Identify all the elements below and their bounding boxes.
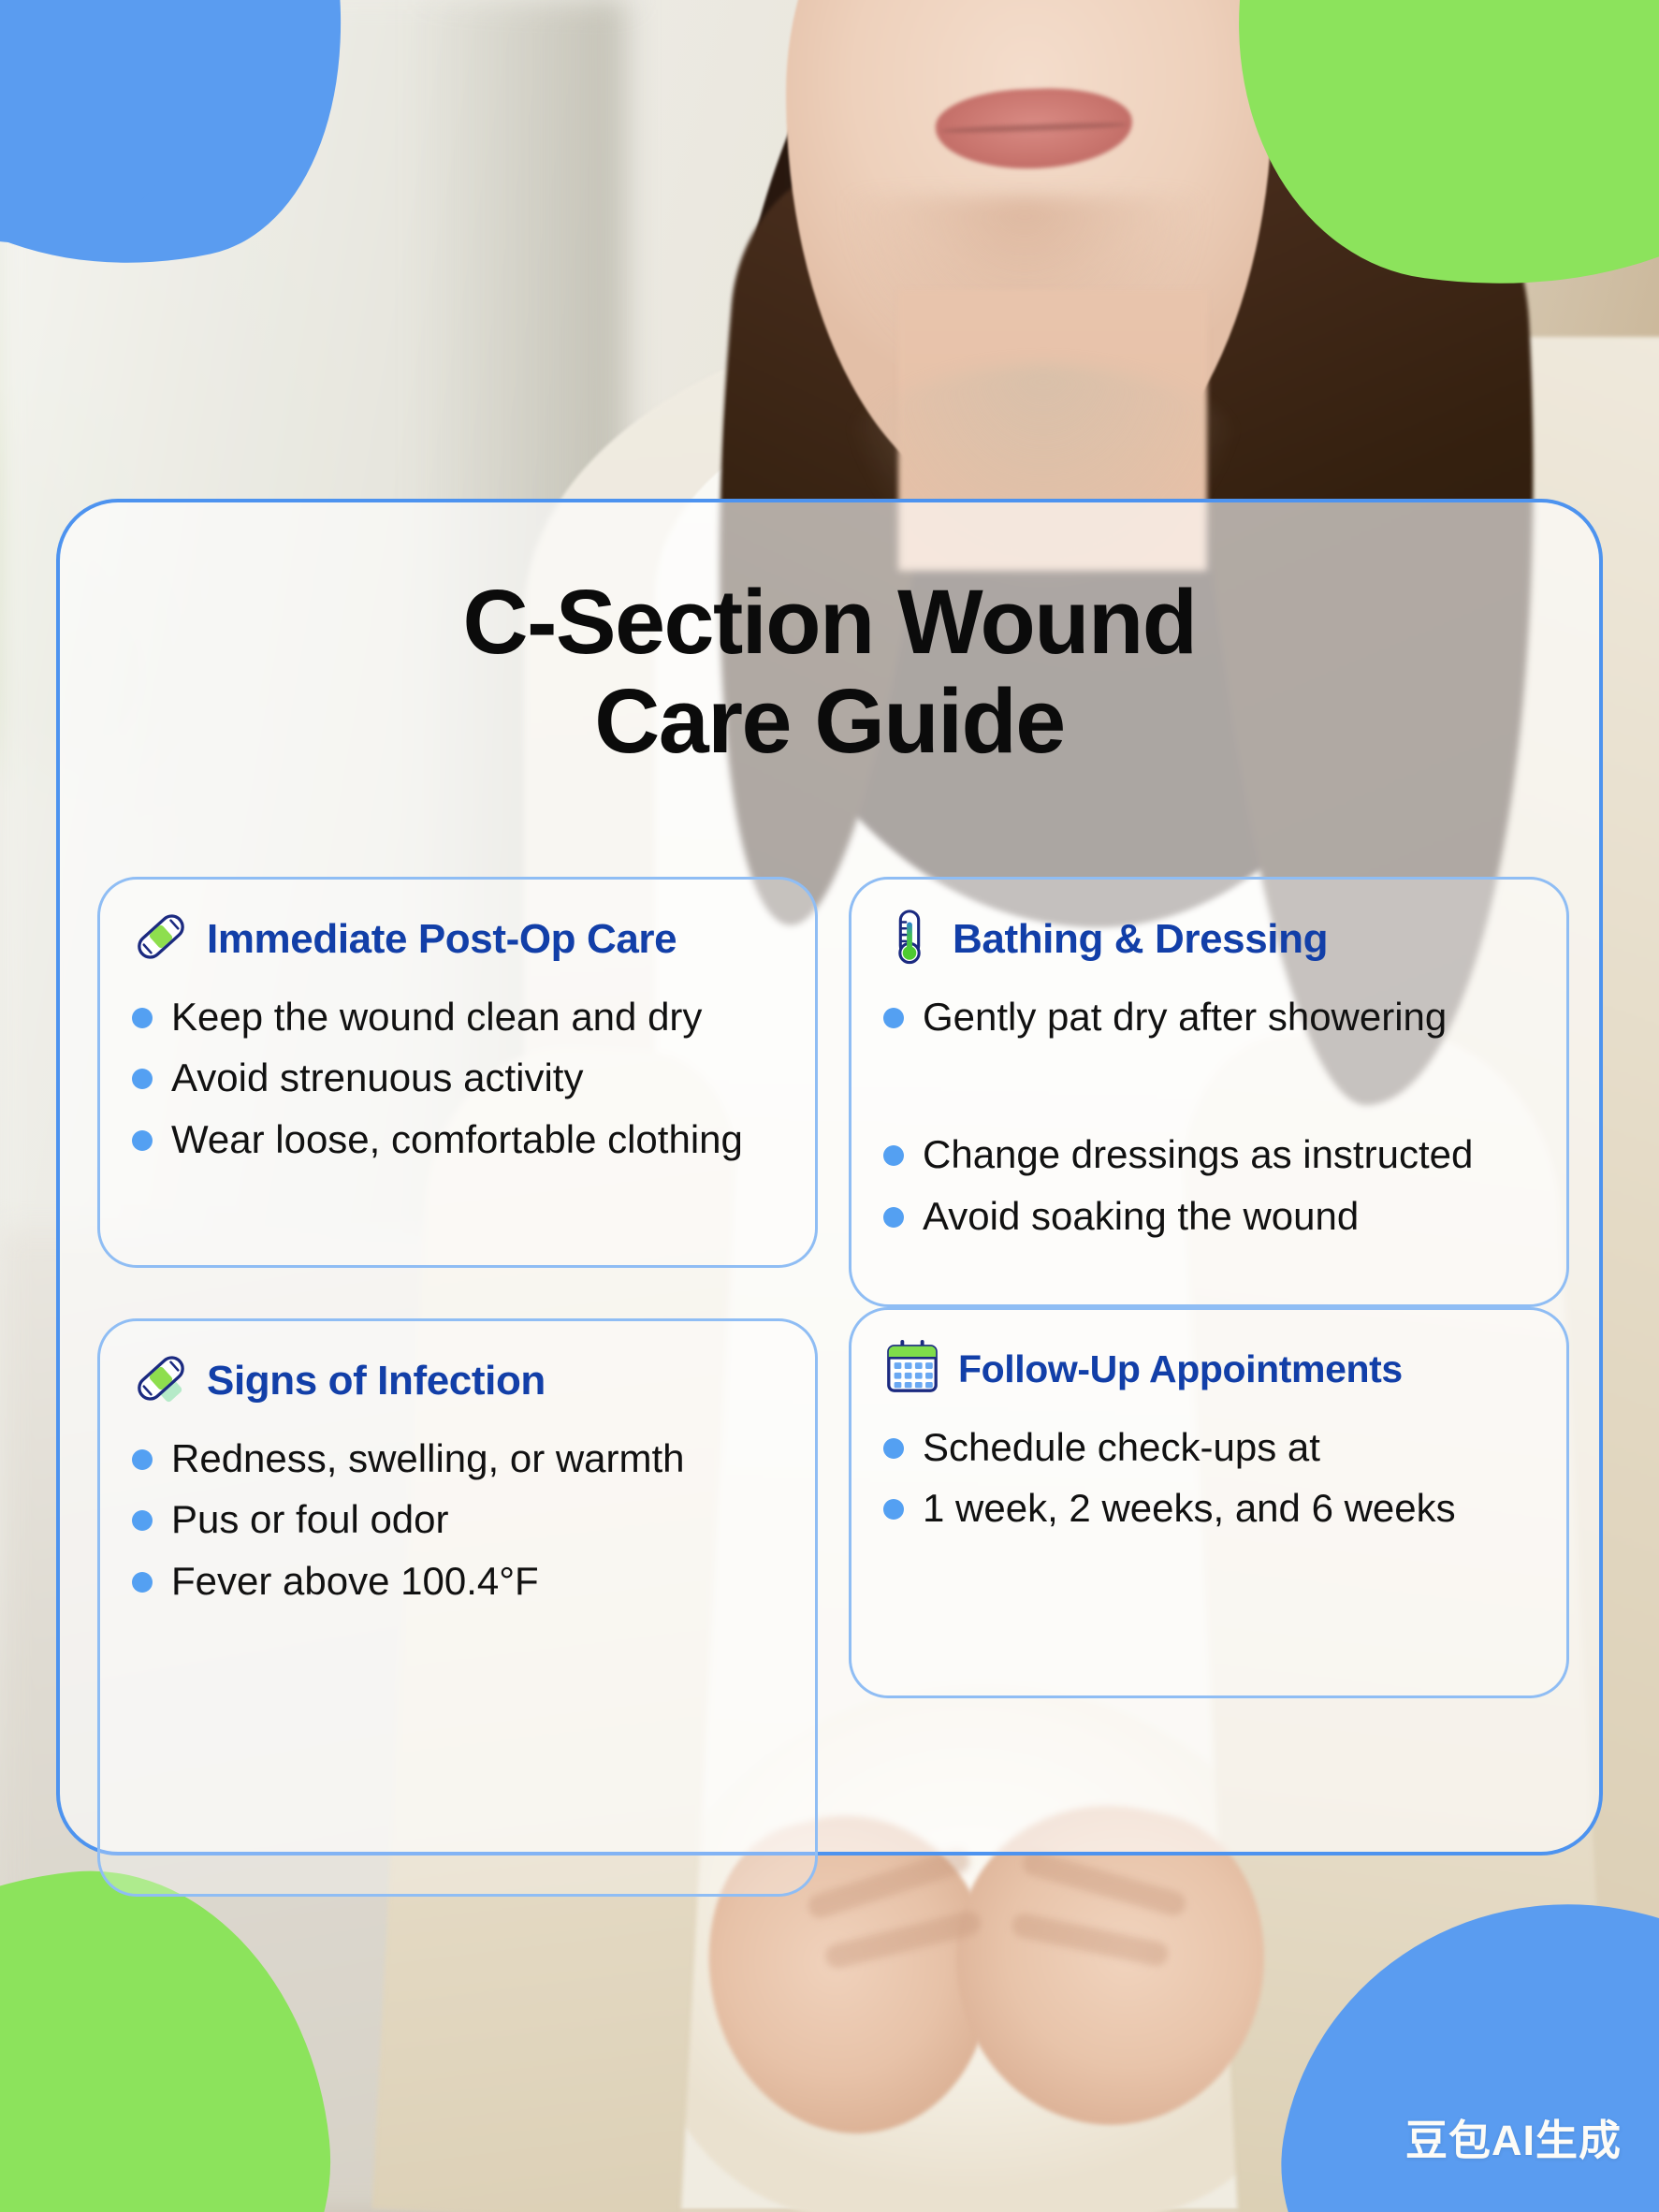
- bullet-list: Keep the wound clean and dry Avoid stren…: [132, 991, 783, 1165]
- card-title: Bathing & Dressing: [953, 916, 1328, 963]
- card-header: Signs of Infection: [132, 1349, 783, 1412]
- card-header: Bathing & Dressing: [883, 908, 1535, 970]
- bullet-dot: [883, 1145, 904, 1166]
- card-title: Immediate Post-Op Care: [207, 916, 677, 963]
- card-bathing-and-dressing[interactable]: Bathing & Dressing Gently pat dry after …: [849, 877, 1569, 1307]
- list-item-text: Gently pat dry after showering: [923, 991, 1447, 1042]
- list-item: Redness, swelling, or warmth: [132, 1433, 783, 1484]
- card-signs-of-infection[interactable]: Signs of Infection Redness, swelling, or…: [97, 1318, 818, 1897]
- list-item-text: Wear loose, comfortable clothing: [171, 1113, 743, 1165]
- bullet-dot: [883, 1438, 904, 1459]
- bandage-icon: [132, 1349, 190, 1412]
- bullet-list: Gently pat dry after showering Change dr…: [883, 991, 1535, 1242]
- thermometer-icon: [883, 908, 936, 970]
- page-title-line-2: Care Guide: [60, 672, 1599, 771]
- calendar-icon: [883, 1338, 941, 1401]
- bullet-list: Schedule check-ups at 1 week, 2 weeks, a…: [883, 1421, 1535, 1535]
- list-item-text: Keep the wound clean and dry: [171, 991, 702, 1042]
- watermark: 豆包AI生成: [1405, 2106, 1622, 2167]
- card-title: Signs of Infection: [207, 1358, 546, 1404]
- list-item: Change dressings as instructed: [883, 1128, 1535, 1180]
- card-column-left: Immediate Post-Op Care Keep the wound cl…: [97, 877, 818, 1930]
- page-title: C-Section Wound Care Guide: [60, 502, 1599, 770]
- poster-canvas: C-Section Wound Care Guide: [0, 0, 1659, 2212]
- card-header: Follow-Up Appointments: [883, 1338, 1535, 1401]
- bullet-dot: [883, 1207, 904, 1228]
- card-column-right: Bathing & Dressing Gently pat dry after …: [849, 877, 1569, 1930]
- list-item: 1 week, 2 weeks, and 6 weeks: [883, 1482, 1535, 1534]
- page-title-line-1: C-Section Wound: [60, 573, 1599, 672]
- list-item: Keep the wound clean and dry: [132, 991, 783, 1042]
- card-title: Follow-Up Appointments: [958, 1347, 1403, 1391]
- card-follow-up-appointments[interactable]: Follow-Up Appointments Schedule check-up…: [849, 1307, 1569, 1698]
- bullet-dot: [132, 1572, 153, 1593]
- bullet-dot: [883, 1008, 904, 1028]
- list-item-text: 1 week, 2 weeks, and 6 weeks: [923, 1482, 1456, 1534]
- list-item-text: Redness, swelling, or warmth: [171, 1433, 685, 1484]
- list-item: Fever above 100.4°F: [132, 1555, 783, 1607]
- list-item-text: Avoid strenuous activity: [171, 1052, 583, 1103]
- card-immediate-post-op-care[interactable]: Immediate Post-Op Care Keep the wound cl…: [97, 877, 818, 1268]
- bullet-dot: [132, 1130, 153, 1151]
- bullet-dot: [132, 1069, 153, 1089]
- bullet-dot: [132, 1449, 153, 1470]
- list-item-text: Fever above 100.4°F: [171, 1555, 539, 1607]
- bullet-dot: [883, 1499, 904, 1520]
- list-item-text: Schedule check-ups at: [923, 1421, 1320, 1473]
- list-item: Schedule check-ups at: [883, 1421, 1535, 1473]
- bullet-list: Redness, swelling, or warmth Pus or foul…: [132, 1433, 783, 1607]
- list-item: Pus or foul odor: [132, 1493, 783, 1545]
- bullet-dot: [132, 1510, 153, 1531]
- list-item: Avoid soaking the wound: [883, 1190, 1535, 1242]
- list-item-text: Change dressings as instructed: [923, 1128, 1473, 1180]
- card-grid: Immediate Post-Op Care Keep the wound cl…: [97, 877, 1569, 1930]
- bullet-dot: [132, 1008, 153, 1028]
- list-item: Gently pat dry after showering: [883, 991, 1535, 1042]
- list-item-text: Pus or foul odor: [171, 1493, 449, 1545]
- list-item-text: Avoid soaking the wound: [923, 1190, 1359, 1242]
- list-item: Avoid strenuous activity: [132, 1052, 783, 1103]
- list-item: Wear loose, comfortable clothing: [132, 1113, 783, 1165]
- content-panel: C-Section Wound Care Guide: [56, 499, 1603, 1855]
- card-header: Immediate Post-Op Care: [132, 908, 783, 970]
- bandage-icon: [132, 908, 190, 970]
